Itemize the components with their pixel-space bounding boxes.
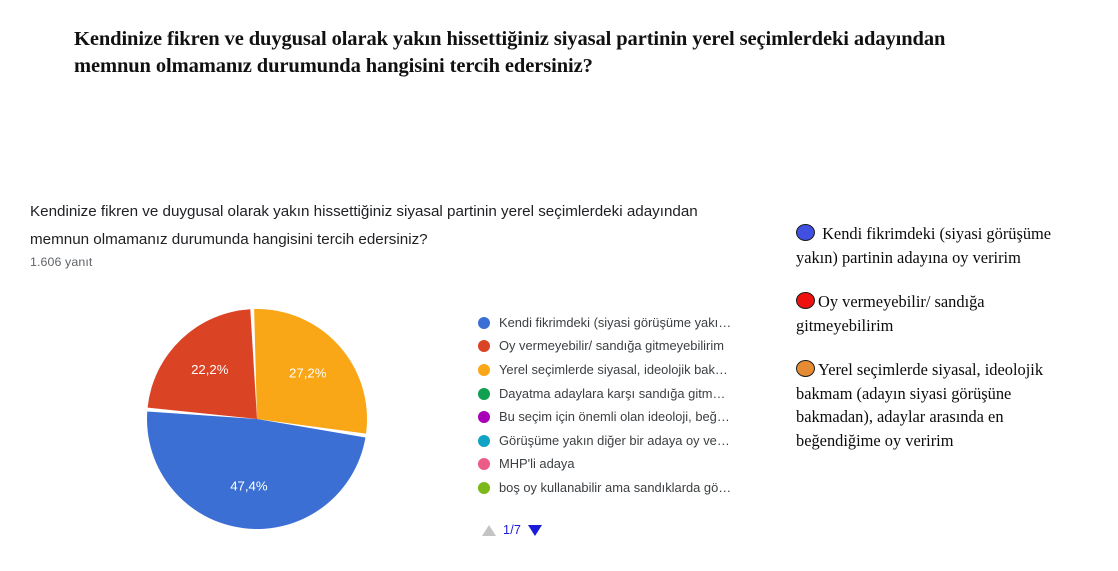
page-title: Kendinize fikren ve duygusal olarak yakı… xyxy=(74,26,1004,80)
legend-color-dot xyxy=(478,458,490,470)
annotation-item: Oy vermeyebilir/ sandığa gitmeyebilirim xyxy=(796,290,1086,337)
legend-item[interactable]: Görüşüme yakın diğer bir adaya oy ve… xyxy=(478,429,743,453)
legend-pager[interactable]: 1/7 xyxy=(482,523,542,537)
legend-item-label: Görüşüme yakın diğer bir adaya oy ve… xyxy=(499,433,730,449)
legend-item-label: Dayatma adaylara karşı sandığa gitm… xyxy=(499,386,725,402)
annotation-color-marker xyxy=(796,292,815,309)
legend-item[interactable]: Oy vermeyebilir/ sandığa gitmeyebilirim xyxy=(478,335,743,359)
pager-label: 1/7 xyxy=(503,523,521,537)
pie-slice-label: 22,2% xyxy=(191,362,229,377)
pie-slice-label: 27,2% xyxy=(289,365,327,380)
legend-color-dot xyxy=(478,317,490,329)
legend-item[interactable]: Bu seçim için önemli olan ideoloji, beğ… xyxy=(478,405,743,429)
chart-card: Kendinize fikren ve duygusal olarak yakı… xyxy=(0,185,770,560)
triangle-up-icon[interactable] xyxy=(482,525,496,536)
legend-item[interactable]: Kendi fikrimdeki (siyasi görüşüme yakı… xyxy=(478,311,743,335)
legend-item-label: boş oy kullanabilir ama sandıklarda gö… xyxy=(499,480,731,496)
legend-item[interactable]: Dayatma adaylara karşı sandığa gitm… xyxy=(478,382,743,406)
legend-color-dot xyxy=(478,364,490,376)
annotation-panel: Kendi fikrimdeki (siyasi görüşüme yakın)… xyxy=(796,222,1086,452)
legend-item-label: Bu seçim için önemli olan ideoloji, beğ… xyxy=(499,409,730,425)
legend-item[interactable]: Yerel seçimlerde siyasal, ideolojik bak… xyxy=(478,358,743,382)
legend-color-dot xyxy=(478,388,490,400)
annotation-text: Kendi fikrimdeki (siyasi görüşüme yakın)… xyxy=(796,224,1051,267)
annotation-text: Yerel seçimlerde siyasal, ideolojik bakm… xyxy=(796,360,1043,450)
legend-item-label: Yerel seçimlerde siyasal, ideolojik bak… xyxy=(499,362,728,378)
triangle-down-icon[interactable] xyxy=(528,525,542,536)
legend-color-dot xyxy=(478,411,490,423)
annotation-color-marker xyxy=(796,224,815,241)
legend-item-label: MHP'li adaya xyxy=(499,456,575,472)
pie-slice-label: 47,4% xyxy=(230,479,268,494)
legend-item[interactable]: MHP'li adaya xyxy=(478,453,743,477)
annotation-text: Oy vermeyebilir/ sandığa gitmeyebilirim xyxy=(796,292,985,335)
annotation-color-marker xyxy=(796,360,815,377)
chart-response-count: 1.606 yanıt xyxy=(30,255,92,269)
chart-question-text: Kendinize fikren ve duygusal olarak yakı… xyxy=(30,198,730,254)
annotation-item: Yerel seçimlerde siyasal, ideolojik bakm… xyxy=(796,358,1086,452)
chart-legend: Kendi fikrimdeki (siyasi görüşüme yakı…O… xyxy=(478,311,743,500)
legend-item-label: Kendi fikrimdeki (siyasi görüşüme yakı… xyxy=(499,315,731,331)
legend-item[interactable]: boş oy kullanabilir ama sandıklarda gö… xyxy=(478,476,743,500)
legend-color-dot xyxy=(478,340,490,352)
legend-color-dot xyxy=(478,435,490,447)
pie-slices xyxy=(147,309,367,529)
annotation-item: Kendi fikrimdeki (siyasi görüşüme yakın)… xyxy=(796,222,1086,269)
legend-item-label: Oy vermeyebilir/ sandığa gitmeyebilirim xyxy=(499,338,724,354)
pie-chart-svg: 27,2%47,4%22,2% xyxy=(145,307,370,537)
pie-chart: 27,2%47,4%22,2% xyxy=(145,307,370,537)
legend-color-dot xyxy=(478,482,490,494)
